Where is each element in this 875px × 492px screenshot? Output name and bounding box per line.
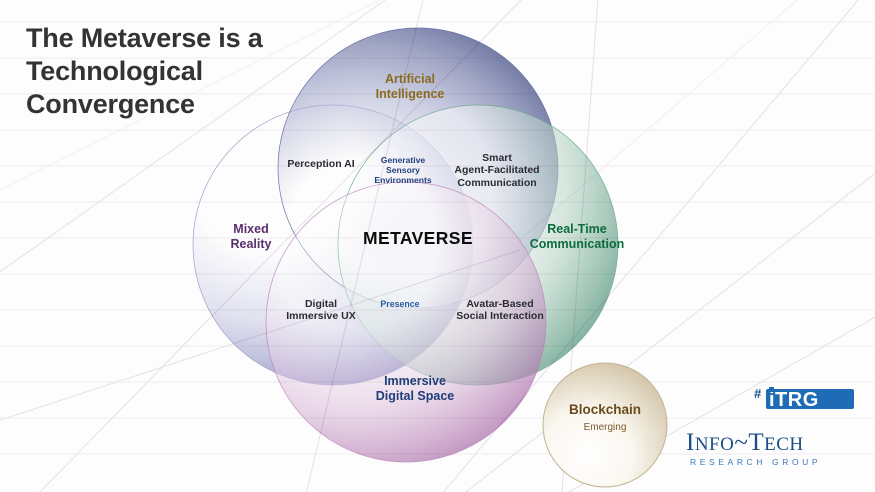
slide-canvas: The Metaverse is a Technological Converg… <box>0 0 875 492</box>
itrg-logo: # iTRG <box>752 385 856 415</box>
itrg-hash-glyph: # <box>754 386 762 401</box>
itrg-wordmark: iTRG <box>769 389 819 411</box>
blockchain-subtitle: Emerging <box>542 422 668 433</box>
info-tech-logo: INFO~TECH RESEARCH GROUP <box>684 424 860 470</box>
info-tech-tagline: RESEARCH GROUP <box>690 457 821 467</box>
blockchain-title: Blockchain <box>542 402 668 417</box>
venn-circle-immersive-digital-space <box>266 182 546 462</box>
page-title: The Metaverse is a Technological Converg… <box>26 22 356 121</box>
blockchain-bubble: Blockchain Emerging <box>542 362 668 488</box>
info-tech-wordmark: INFO~TECH <box>686 429 804 456</box>
